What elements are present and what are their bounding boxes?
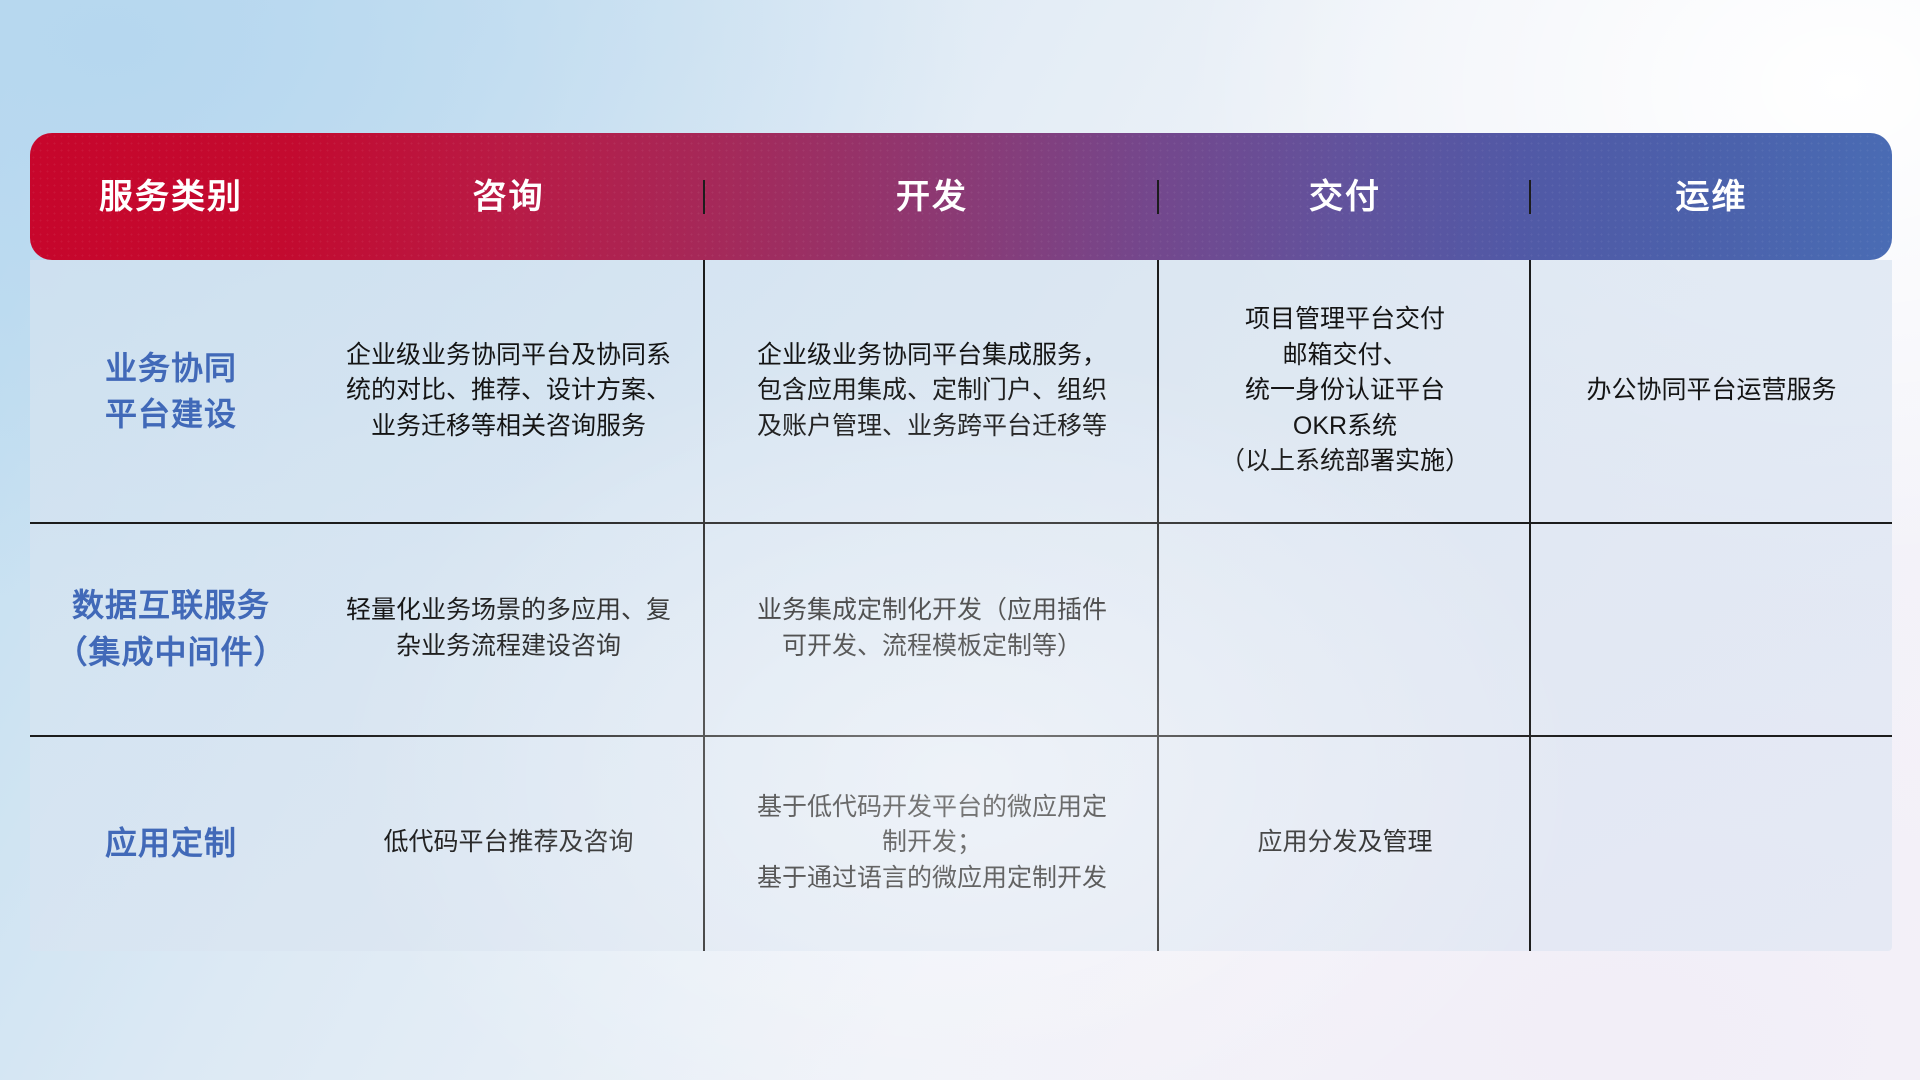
column-header-operations: 运维 bbox=[1531, 180, 1892, 214]
service-matrix-table: 服务类别 咨询 开发 交付 运维 业务协同 平台建设 企业级业务协同平台及协同系… bbox=[30, 133, 1892, 951]
column-header-delivery: 交付 bbox=[1159, 180, 1531, 214]
column-header-service-category: 服务类别 bbox=[30, 180, 312, 214]
cell-delivery: 项目管理平台交付 邮箱交付、 统一身份认证平台 OKR系统 （以上系统部署实施） bbox=[1159, 260, 1531, 522]
row-category-label: 数据互联服务 （集成中间件） bbox=[30, 522, 312, 735]
cell-consulting: 低代码平台推荐及咨询 bbox=[312, 735, 705, 951]
table-row: 业务协同 平台建设 企业级业务协同平台及协同系 统的对比、推荐、设计方案、 业务… bbox=[30, 260, 1892, 522]
cell-development: 业务集成定制化开发（应用插件 可开发、流程模板定制等） bbox=[705, 522, 1159, 735]
cell-consulting: 轻量化业务场景的多应用、复 杂业务流程建设咨询 bbox=[312, 522, 705, 735]
row-category-label: 业务协同 平台建设 bbox=[30, 260, 312, 522]
cell-operations bbox=[1531, 735, 1892, 951]
cell-operations: 办公协同平台运营服务 bbox=[1531, 260, 1892, 522]
table-body: 业务协同 平台建设 企业级业务协同平台及协同系 统的对比、推荐、设计方案、 业务… bbox=[30, 260, 1892, 951]
cell-delivery bbox=[1159, 522, 1531, 735]
cell-development: 企业级业务协同平台集成服务， 包含应用集成、定制门户、组织 及账户管理、业务跨平… bbox=[705, 260, 1159, 522]
table-row: 数据互联服务 （集成中间件） 轻量化业务场景的多应用、复 杂业务流程建设咨询 业… bbox=[30, 522, 1892, 735]
cell-development: 基于低代码开发平台的微应用定 制开发； 基于通过语言的微应用定制开发 bbox=[705, 735, 1159, 951]
cell-operations bbox=[1531, 522, 1892, 735]
table-row: 应用定制 低代码平台推荐及咨询 基于低代码开发平台的微应用定 制开发； 基于通过… bbox=[30, 735, 1892, 951]
column-header-consulting: 咨询 bbox=[312, 180, 705, 214]
row-category-label: 应用定制 bbox=[30, 735, 312, 951]
cell-consulting: 企业级业务协同平台及协同系 统的对比、推荐、设计方案、 业务迁移等相关咨询服务 bbox=[312, 260, 705, 522]
table-header-row: 服务类别 咨询 开发 交付 运维 bbox=[30, 133, 1892, 260]
column-header-development: 开发 bbox=[705, 180, 1159, 214]
cell-delivery: 应用分发及管理 bbox=[1159, 735, 1531, 951]
